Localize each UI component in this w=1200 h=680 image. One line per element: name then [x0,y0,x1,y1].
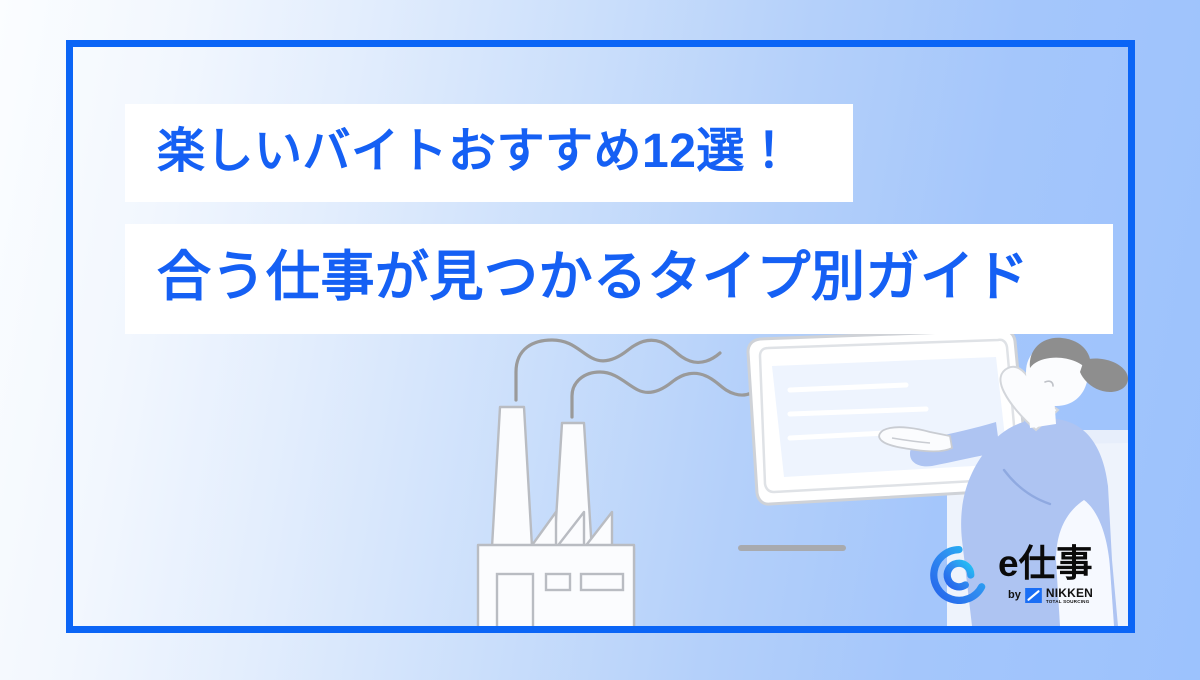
banner-root: 楽しいバイトおすすめ12選！ 合う仕事が見つかるタイプ別ガイド e仕事 by [0,0,1200,680]
logo-by-label: by [1008,590,1021,601]
logo-byline: by NIKKEN TOTAL SOURCING [1008,587,1093,605]
factory-illustration [478,407,634,634]
title-line-2: 合う仕事が見つかるタイプ別ガイド [125,224,1113,334]
title-block: 楽しいバイトおすすめ12選！ 合う仕事が見つかるタイプ別ガイド [125,104,1200,334]
e-mark-icon [930,546,988,604]
logo-wordmark: e仕事 [998,545,1093,582]
smoke-wave [516,340,761,417]
nikken-tagline: TOTAL SOURCING [1046,600,1093,605]
nikken-name: NIKKEN [1046,587,1093,599]
nikken-text-block: NIKKEN TOTAL SOURCING [1046,587,1093,605]
logo-block[interactable]: e仕事 by NIKKEN TOTAL SOURCING [930,545,1093,605]
logo-text-block: e仕事 by NIKKEN TOTAL SOURCING [998,545,1093,605]
nikken-badge-icon [1025,588,1042,603]
ground-line [738,545,846,551]
title-line-1: 楽しいバイトおすすめ12選！ [125,104,853,202]
